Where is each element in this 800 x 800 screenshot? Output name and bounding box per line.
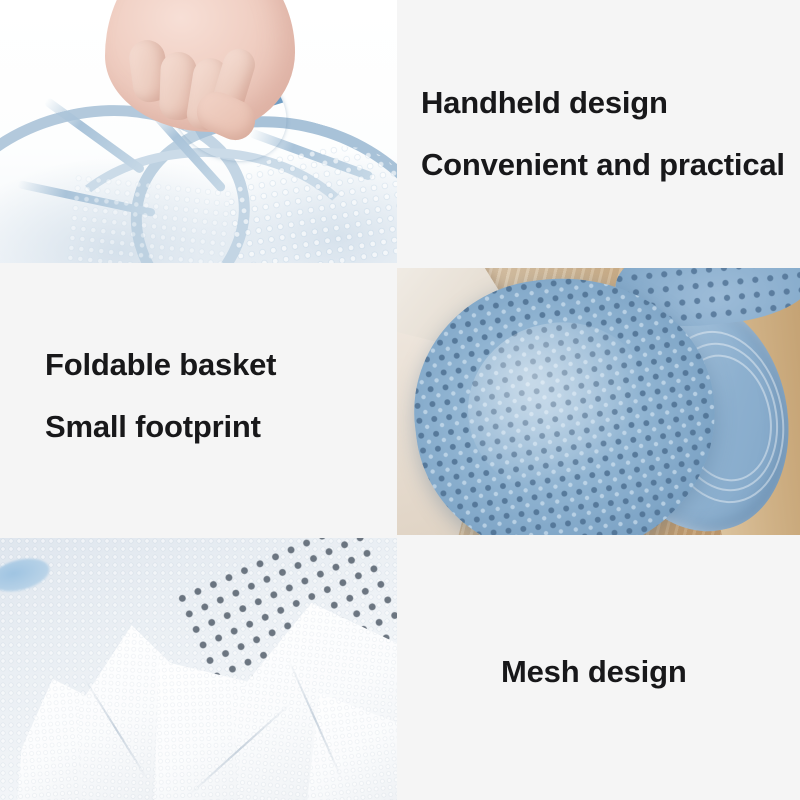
feature-panel-foldable: Foldable basket Small footprint: [0, 272, 397, 535]
feature-headline-secondary: Small footprint: [45, 411, 397, 444]
basket-mesh-disk: [399, 268, 731, 535]
photo-white-mesh-fabric: [0, 538, 397, 800]
feature-panel-handheld: Handheld design Convenient and practical: [397, 0, 800, 263]
photo-folded-basket-on-wood: [397, 268, 800, 535]
feature-headline-secondary: Convenient and practical: [421, 149, 800, 182]
feature-headline-primary: Handheld design: [421, 87, 800, 120]
feature-headline-primary: Mesh design: [501, 656, 800, 689]
photo-hand-holding-basket: [0, 0, 397, 263]
basket-mesh-texture: [66, 174, 235, 263]
feature-panel-mesh: Mesh design: [397, 538, 800, 800]
product-feature-collage: Handheld design Convenient and practical…: [0, 0, 800, 800]
feature-headline-primary: Foldable basket: [45, 349, 397, 382]
